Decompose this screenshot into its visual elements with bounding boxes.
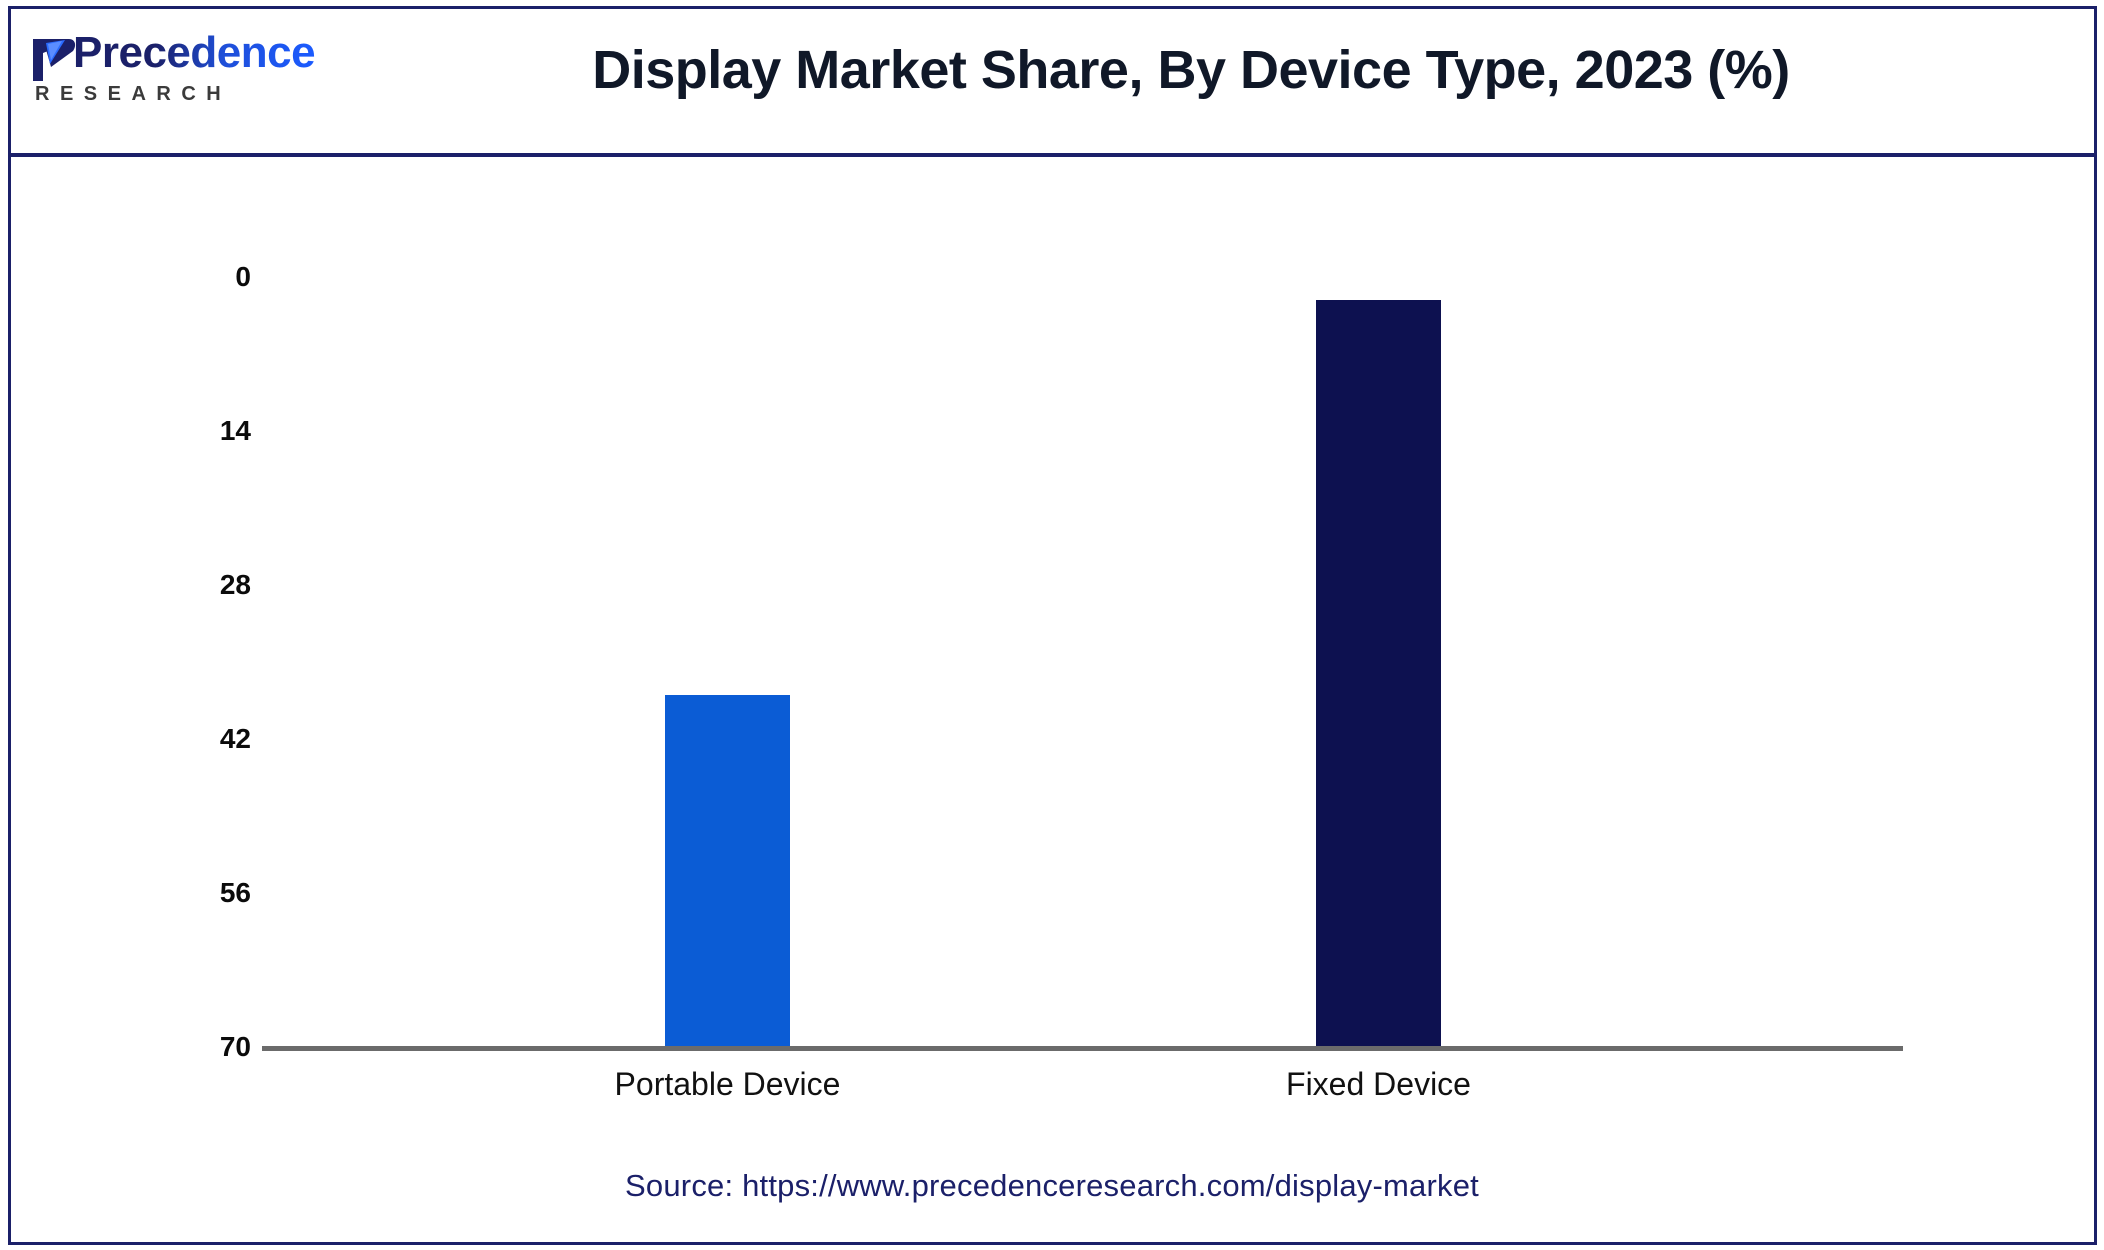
source-attribution: Source: https://www.precedenceresearch.c… [0, 1168, 2104, 1204]
precedence-research-logo: Precedence RESEARCH [27, 31, 277, 131]
bar-rect-portable-device[interactable] [665, 695, 790, 1046]
y-axis-tick-28: 28 [131, 571, 251, 599]
page-title: Display Market Share, By Device Type, 20… [311, 39, 2071, 101]
y-axis-tick-0: 0 [131, 263, 251, 291]
bar-label-portable-device: Portable Device [615, 1068, 841, 1100]
bar-rect-fixed-device[interactable] [1316, 300, 1441, 1046]
y-axis-tick-42: 42 [131, 725, 251, 753]
x-axis-line [262, 1046, 1903, 1051]
logo-wordmark: Precedence [73, 31, 315, 75]
chart-figure: Precedence RESEARCH Display Market Share… [0, 0, 2104, 1250]
figure-header: Precedence RESEARCH Display Market Share… [11, 9, 2094, 157]
plot-area: 70 56 42 28 14 0 32% Portable Device 68%… [11, 161, 2094, 1245]
y-axis-tick-56: 56 [131, 879, 251, 907]
y-axis-tick-14: 14 [131, 417, 251, 445]
bar-label-fixed-device: Fixed Device [1286, 1068, 1471, 1100]
logo-subtitle: RESEARCH [35, 83, 231, 106]
y-axis-tick-70: 70 [131, 1033, 251, 1061]
